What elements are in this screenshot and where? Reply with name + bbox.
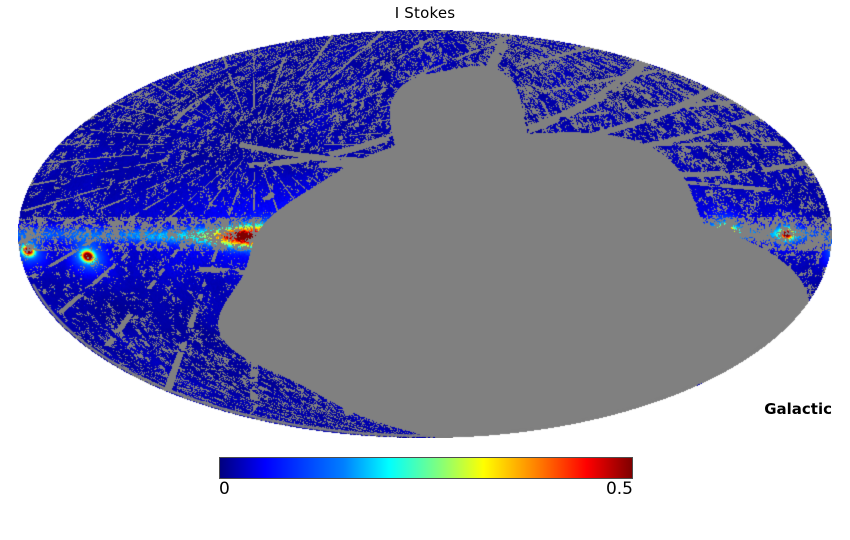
colorbar-gradient <box>219 457 633 479</box>
sky-map-figure: I Stokes Galactic 0 0.5 <box>0 0 850 540</box>
colorbar-max-label: 0.5 <box>606 479 633 499</box>
colorbar: 0 0.5 <box>219 457 633 503</box>
page-title: I Stokes <box>0 4 850 22</box>
colorbar-min-label: 0 <box>219 479 230 499</box>
mollweide-sky-map <box>18 30 832 438</box>
sky-projection-area <box>18 30 832 438</box>
coordinate-frame-label: Galactic <box>764 400 832 418</box>
